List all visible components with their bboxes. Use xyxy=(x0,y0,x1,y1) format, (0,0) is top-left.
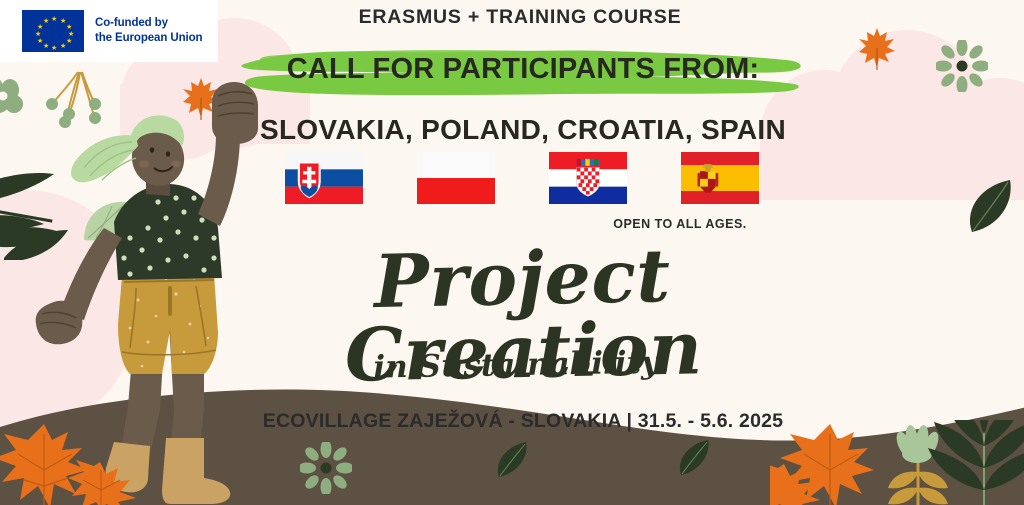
fern-icon xyxy=(928,420,1024,505)
dark-leaf-rightbottom xyxy=(676,438,712,476)
headline-block: CALL FOR PARTICIPANTS FROM: xyxy=(238,44,808,98)
eyebrow-text: ERASMUS + TRAINING COURSE xyxy=(240,6,800,29)
dark-leaf-centerbottom xyxy=(494,440,530,478)
figure-eye xyxy=(166,151,170,156)
maple-leaf-topright xyxy=(858,26,896,70)
slovakia-flag xyxy=(278,152,370,204)
poland-flag xyxy=(410,152,502,204)
eu-logo-text: Co-funded by the European Union xyxy=(95,16,202,45)
venue-date-text: ECOVILLAGE ZAJEŽOVÁ - SLOVAKIA | 31.5. -… xyxy=(238,410,808,433)
eu-logo-line2: the European Union xyxy=(95,31,202,46)
figure-front-boot xyxy=(162,438,230,504)
maple-leaf-cluster-left xyxy=(0,418,138,505)
headline-text: CALL FOR PARTICIPANTS FROM: xyxy=(238,53,808,86)
eu-cofunding-logo: ★ ★ ★ ★ ★ ★ ★ ★ ★ ★ ★ ★ Co-funded by the… xyxy=(0,0,218,62)
spain-flag xyxy=(674,152,766,204)
figure-eye xyxy=(150,147,154,152)
eu-logo-line1: Co-funded by xyxy=(95,16,202,31)
figure-raised-arm xyxy=(198,134,240,226)
flower-topright xyxy=(936,40,988,92)
eu-flag-icon: ★ ★ ★ ★ ★ ★ ★ ★ ★ ★ ★ ★ xyxy=(22,10,84,52)
flag-row xyxy=(278,152,766,204)
countries-text: SLOVAKIA, POLAND, CROATIA, SPAIN xyxy=(238,114,808,146)
flower-groundcenter xyxy=(300,442,352,494)
bottom-right-plant-group xyxy=(770,420,1024,505)
croatia-flag xyxy=(542,152,634,204)
poster-canvas: ★ ★ ★ ★ ★ ★ ★ ★ ★ ★ ★ ★ Co-funded by the… xyxy=(0,0,1024,505)
open-to-all-ages-text: OPEN TO ALL AGES. xyxy=(560,217,800,231)
dark-leaf-rightmid xyxy=(964,178,1016,234)
